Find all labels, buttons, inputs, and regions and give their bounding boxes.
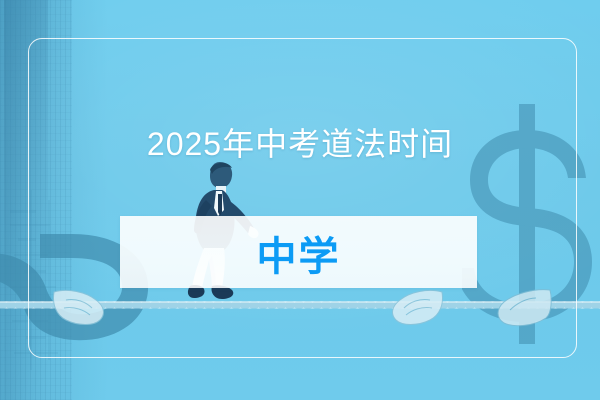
- hand-gripping-icon: [52, 286, 110, 330]
- banner-image: 2025年中考道法时间 中学: [0, 0, 600, 400]
- page-title: 2025年中考道法时间: [0, 124, 600, 164]
- hand-gripping-icon: [386, 286, 444, 330]
- subtitle-text: 中学: [120, 222, 477, 284]
- hand-gripping-icon: [490, 286, 552, 330]
